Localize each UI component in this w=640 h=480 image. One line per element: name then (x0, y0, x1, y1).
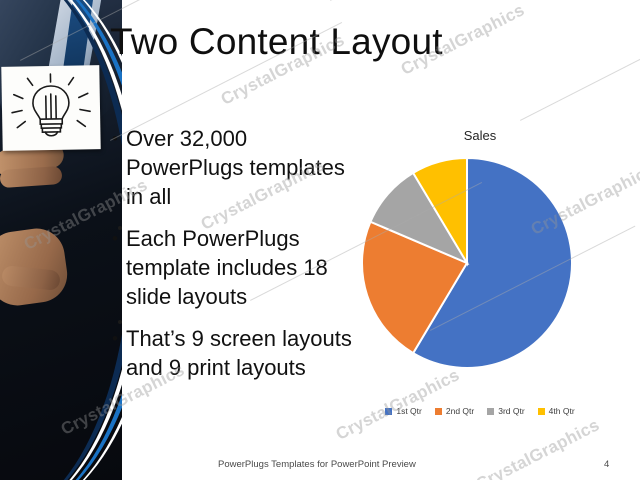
chart-legend: 1st Qtr2nd Qtr3rd Qtr4th Qtr (355, 406, 605, 416)
watermark-line (330, 0, 553, 1)
list-item: • That’s 9 screen layouts and 9 print la… (112, 324, 352, 382)
list-item: • Over 32,000 PowerPlugs templates in al… (112, 124, 352, 211)
footer-text: PowerPlugs Templates for PowerPoint Prev… (218, 459, 416, 470)
list-item: • Each PowerPlugs template includes 18 s… (112, 224, 352, 311)
legend-item-1st-qtr[interactable]: 1st Qtr (385, 406, 422, 416)
bullet-text: That’s 9 screen layouts and 9 print layo… (126, 324, 352, 382)
bullet-text: Each PowerPlugs template includes 18 sli… (126, 224, 352, 311)
legend-item-3rd-qtr[interactable]: 3rd Qtr (487, 406, 524, 416)
slide-canvas: Two Content Layout • Over 32,000 PowerPl… (0, 0, 640, 480)
legend-item-2nd-qtr[interactable]: 2nd Qtr (435, 406, 474, 416)
watermark-line (520, 20, 640, 121)
legend-swatch-icon (385, 408, 392, 415)
legend-label: 2nd Qtr (446, 406, 474, 416)
finger (0, 166, 63, 188)
pie-plot-area (355, 150, 605, 380)
bullet-list: • Over 32,000 PowerPlugs templates in al… (112, 124, 352, 395)
legend-label: 4th Qtr (549, 406, 575, 416)
page-number: 4 (604, 459, 609, 470)
business-card (1, 65, 100, 151)
bullet-text: Over 32,000 PowerPlugs templates in all (126, 124, 352, 211)
legend-swatch-icon (435, 408, 442, 415)
sales-pie-chart: Sales 1st Qtr2nd Qtr3rd Qtr4th Qtr (355, 128, 605, 433)
pie-svg (355, 150, 605, 380)
bullet-marker: • (112, 124, 126, 211)
left-image-panel (0, 0, 122, 480)
lightbulb-icon (7, 71, 94, 144)
legend-item-4th-qtr[interactable]: 4th Qtr (538, 406, 575, 416)
legend-label: 3rd Qtr (498, 406, 524, 416)
chart-title: Sales (355, 128, 605, 143)
bullet-marker: • (112, 224, 126, 311)
bullet-marker: • (112, 324, 126, 382)
page-title: Two Content Layout (110, 22, 510, 63)
legend-swatch-icon (487, 408, 494, 415)
legend-label: 1st Qtr (396, 406, 422, 416)
legend-swatch-icon (538, 408, 545, 415)
